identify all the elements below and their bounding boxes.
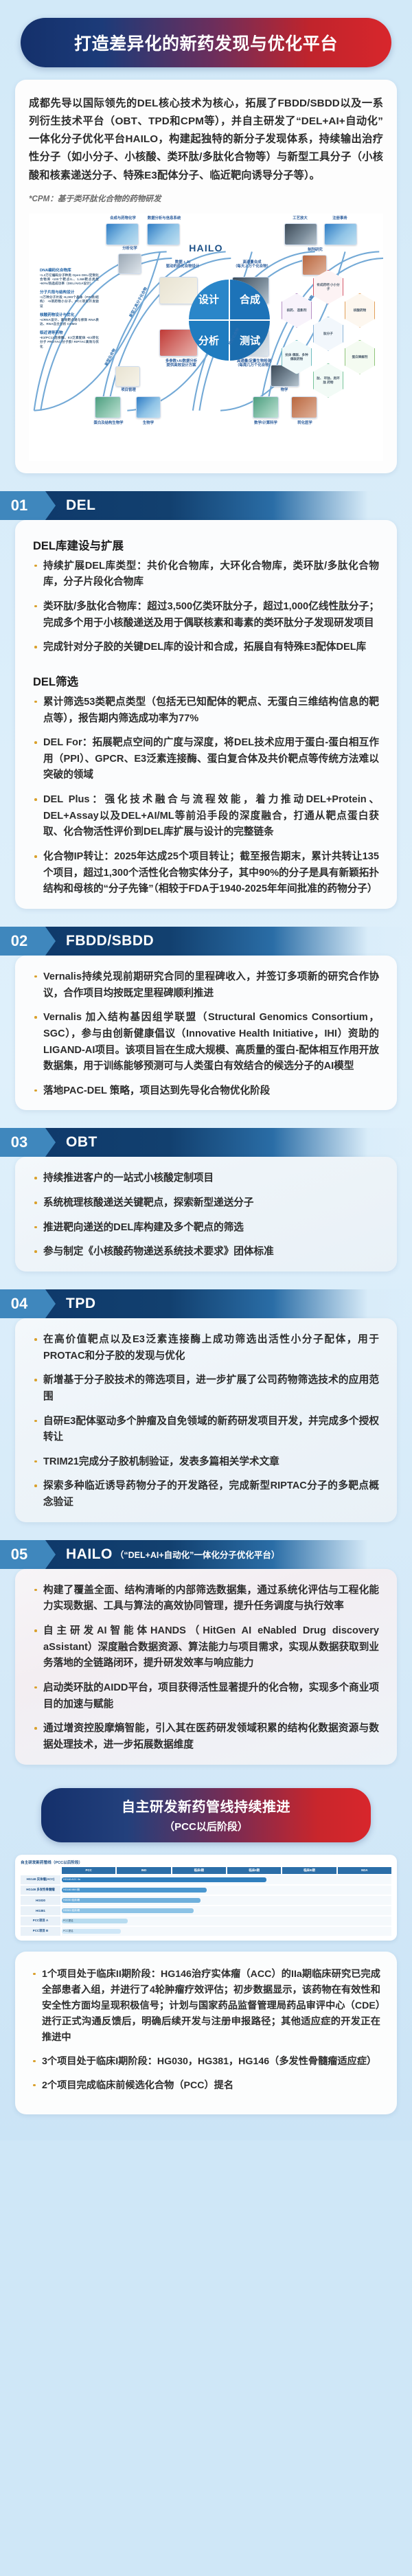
list-item: 推进靶向递送的DEL库构建及多个靶点的筛选 xyxy=(33,1220,379,1236)
section-body-05: 构建了覆盖全面、结构清晰的内部筛选数据集，通过系统化评估与工程化能力实现数据、工… xyxy=(15,1569,397,1765)
section-banner-02: 02 FBDD/SBDD xyxy=(0,927,412,956)
hex-antibody-conjugate: 抗体 偶联、多种 偶联药物 xyxy=(282,340,312,374)
list-item: 启动类环肽的AIDD平台，项目获得活性显著提升的化合物，实现多个商业项目的加速与… xyxy=(33,1680,379,1713)
pipeline-bar: PCC提名 xyxy=(62,1919,128,1923)
infographic-page: 打造差异化的新药发现与优化平台 成都先导以国际领先的DEL核心技术为核心，拓展了… xyxy=(0,0,412,2140)
intro-card: 成都先导以国际领先的DEL核心技术为核心，拓展了FBDD/SBDD以及一系列衍生… xyxy=(15,80,397,473)
diagram-left-groups: DNA编码化合物库 •1.2万亿编码分子种类 Open DEL/定制化合物库 •… xyxy=(40,267,99,352)
pipeline-title-line2: （PCC以后阶段） xyxy=(48,1819,364,1833)
list-item: 构建了覆盖全面、结构清晰的内部筛选数据集，通过系统化评估与工程化能力实现数据、工… xyxy=(33,1583,379,1615)
thumb-ai-design xyxy=(159,277,198,304)
section-card-03: 持续推进客户的一站式小核酸定制项目 系统梳理核酸递送关键靶点，探索新型递送分子 … xyxy=(15,1157,397,1272)
list-item: 自主研发AI智能体HANDS（HitGen AI eNabled Drug di… xyxy=(33,1623,379,1672)
hex-protein-degrader: 蛋白降解剂 xyxy=(345,340,375,374)
section-banner-05: 05 HAILO （“DEL+AI+自动化”一体化分子优化平台） xyxy=(0,1540,412,1569)
section-banner-03: 03 OBT xyxy=(0,1128,412,1157)
diagram-label-process-scaleup: 工艺放大 xyxy=(279,216,321,221)
thumb-project-management xyxy=(115,366,140,387)
section-titlebar-01: DEL xyxy=(45,491,412,520)
bullet-list-tpd: 在高价值靶点以及E3泛素连接酶上成功筛选出活性小分子配体，用于PROTAC和分子… xyxy=(33,1332,379,1511)
intro-footnote: *CPM：基于类环肽化合物的药物研发 xyxy=(29,193,383,204)
pipeline-phase-header: 临床II期 xyxy=(227,1867,281,1874)
thumb-analytical-chemistry xyxy=(118,253,141,274)
left-group-lines-3: •E3/PC13连接酶、E3泛素配体 •E3转化分子 PROTAC/分子胶/ R… xyxy=(40,336,99,349)
section-titlebar-03: OBT xyxy=(45,1128,412,1157)
pipeline-row-label: HG381 xyxy=(21,1906,60,1915)
pipeline-phase-header-row: PCC IND 临床I期 临床II期 临床III期 NDA xyxy=(62,1867,391,1874)
section-banner-04: 04 TPD xyxy=(0,1289,412,1318)
left-group-title-0: DNA编码化合物库 xyxy=(40,267,99,273)
list-item: 类环肽/多肽化合物库：超过3,500亿类环肽分子，超过1,000亿线性肽分子；完… xyxy=(33,599,379,631)
pipeline-title-pill: 自主研发新药管线持续推进 （PCC以后阶段） xyxy=(41,1788,371,1842)
diagram-label-data-analysis: 数据分析与信息系统 xyxy=(136,216,192,221)
diagram-caption-high-throughput-synthesis: 高通量合成 （每天上万个化合物） xyxy=(222,260,282,270)
pipeline-bar: HG146 MM I期 xyxy=(62,1888,207,1893)
list-item: 探索多种临近诱导药物分子的开发路径，完成新型RIPTAC分子的多靶点概念验证 xyxy=(33,1478,379,1511)
section-number-01: 01 xyxy=(0,491,45,520)
left-group-title-1: 分子片段与结构设计 xyxy=(40,289,99,295)
list-item: 参与制定《小核酸药物递送系统技术要求》团体标准 xyxy=(33,1244,379,1261)
section-banner-01: 01 DEL xyxy=(0,491,412,520)
diagram-output-hexagons: 有成药吧 小小分子 核药、 造影剂 核酸药物 肽分子 抗体 偶联、多种 偶联药物… xyxy=(276,270,379,400)
intro-paragraph: 成都先导以国际领先的DEL核心技术为核心，拓展了FBDD/SBDD以及一系列衍生… xyxy=(29,95,383,185)
pipeline-row-track: HG381 临床I期 xyxy=(62,1906,391,1915)
list-item: 系统梳理核酸递送关键靶点，探索新型递送分子 xyxy=(33,1195,379,1212)
left-group-lines-2: •siRNA设计、高效靶点递与修饰 RNA表达、RNA自主分析 CDMO xyxy=(40,318,99,326)
pipeline-row-track: PCC提名 xyxy=(62,1917,391,1925)
section-body-02: Vernalis持续兑现前期研究合同的里程碑收入，并签订多项新的研究合作协议，合… xyxy=(15,956,397,1110)
list-item: Vernalis持续兑现前期研究合同的里程碑收入，并签订多项新的研究合作协议，合… xyxy=(33,969,379,1002)
pipeline-chart-title: 自主研发新药管线（PCC以后阶段） xyxy=(21,1860,391,1865)
list-item: 在高价值靶点以及E3泛素连接酶上成功筛选出活性小分子配体，用于PROTAC和分子… xyxy=(33,1332,379,1364)
diagram-label-analytical-chemistry: 分析化学 xyxy=(110,247,150,251)
section-number-03: 03 xyxy=(0,1128,45,1157)
pipeline-row-label: HG146 多发性骨髓瘤 xyxy=(21,1886,60,1895)
subheading-del-screening: DEL筛选 xyxy=(33,673,379,689)
list-item: 自研E3配体驱动多个肿瘤及自免领域的新药研发项目开发，并完成多个授权转让 xyxy=(33,1414,379,1446)
list-item: 新增基于分子胶技术的筛选项目，进一步扩展了公司药物筛选技术的应用范围 xyxy=(33,1372,379,1405)
bullet-list-pipeline: 1个项目处于临床II期阶段：HG146治疗实体瘤（ACC）的IIa期临床研究已完… xyxy=(32,1967,380,2094)
thumb-computational-science xyxy=(253,396,279,418)
hailo-platform-diagram: HAILO DNA编码化合物库 •1.2万亿编码分子种类 Open DEL/定制… xyxy=(29,214,383,461)
subheading-del-library: DEL库建设与扩展 xyxy=(33,536,379,553)
bullet-list-del-screening: 累计筛选53类靶点类型（包括无已知配体的靶点、无蛋白三维结构信息的靶点等），报告… xyxy=(33,694,379,898)
section-body-04: 在高价值靶点以及E3泛素连接酶上成功筛选出活性小分子配体，用于PROTAC和分子… xyxy=(15,1318,397,1522)
pipeline-phase-header: IND xyxy=(117,1867,170,1874)
pipeline-row-label: PCC项目 A xyxy=(21,1917,60,1925)
pipeline-row-label: PCC项目 B xyxy=(21,1927,60,1936)
pipeline-bullets-card: 1个项目处于临床II期阶段：HG146治疗实体瘤（ACC）的IIa期临床研究已完… xyxy=(15,1952,397,2114)
diagram-label-translational-medicine: 转化医学 xyxy=(286,421,324,426)
section-body-01: DEL库建设与扩展 持续扩展DEL库类型：共价化合物库，大环化合物库，类环肽/多… xyxy=(15,520,397,909)
section-subtitle-05: （“DEL+AI+自动化”一体化分子优化平台） xyxy=(115,1548,280,1561)
section-card-01: DEL库建设与扩展 持续扩展DEL库类型：共价化合物库，大环化合物库，类环肽/多… xyxy=(15,520,397,909)
pipeline-bar: HG146 ACC IIa xyxy=(62,1877,266,1882)
section-title-01: DEL xyxy=(66,497,96,514)
diagram-label-computational-science: 数学/计算科学 xyxy=(244,421,287,426)
pipeline-phase-header: NDA xyxy=(338,1867,391,1874)
list-item: Vernalis 加入结构基因组学联盟（Structural Genomics … xyxy=(33,1010,379,1075)
pipeline-bar: PCC提名 xyxy=(62,1929,121,1934)
list-item: DEL For：拓展靶点空间的广度与深度，将DEL技术应用于蛋白-蛋白相互作用（… xyxy=(33,735,379,784)
bullet-list-del-library: 持续扩展DEL库类型：共价化合物库，大环化合物库，类环肽/多肽化合物库，分子片段… xyxy=(33,558,379,656)
list-item: 1个项目处于临床II期阶段：HG146治疗实体瘤（ACC）的IIa期临床研究已完… xyxy=(32,1967,380,2046)
page-title-pill: 打造差异化的新药发现与优化平台 xyxy=(21,18,391,67)
list-item: 通过增资控股摩熵智能，引入其在医药研发领域积累的结构化数据资源与数据处理技术，进… xyxy=(33,1721,379,1753)
left-group-title-3: 临近诱导药物 xyxy=(40,330,99,335)
hailo-quadrant-wheel: 设计 合成 分析 测试 xyxy=(189,280,270,361)
section-body-03: 持续推进客户的一站式小核酸定制项目 系统梳理核酸递送关键靶点，探索新型递送分子 … xyxy=(15,1157,397,1272)
bullet-list-hailo: 构建了覆盖全面、结构清晰的内部筛选数据集，通过系统化评估与工程化能力实现数据、工… xyxy=(33,1583,379,1754)
list-item: 化合物IP转让：2025年达成25个项目转让；截至报告期末，累计共转让135个项… xyxy=(33,849,379,898)
diagram-label-formulation-research: 制剂研究 xyxy=(295,248,335,253)
thumb-protein-structural-biology xyxy=(95,396,121,418)
bullet-list-obt: 持续推进客户的一站式小核酸定制项目 系统梳理核酸递送关键靶点，探索新型递送分子 … xyxy=(33,1171,379,1261)
thumb-biology xyxy=(136,396,161,418)
left-group-lines-0: •1.2万亿编码分子种类 Open DEL/定制化合物库 •100个靶点/L、1… xyxy=(40,273,99,286)
diagram-label-regulatory-affairs: 注册事务 xyxy=(319,216,361,221)
pipeline-phase-header: PCC xyxy=(62,1867,115,1874)
section-title-04: TPD xyxy=(66,1296,96,1312)
section-title-05: HAILO xyxy=(66,1546,113,1563)
pipeline-row-label: HG030 xyxy=(21,1896,60,1905)
hex-radiopharma-imaging: 核药、 造影剂 xyxy=(282,293,312,328)
thumb-process-scaleup xyxy=(284,223,317,245)
pipeline-phase-header: 临床III期 xyxy=(282,1867,336,1874)
left-group-title-2: 核酸药物设计与优化 xyxy=(40,312,99,317)
bullet-list-fbdd-sbdd: Vernalis持续兑现前期研究合同的里程碑收入，并签订多项新的研究合作协议，合… xyxy=(33,969,379,1099)
list-item: 累计筛选53类靶点类型（包括无已知配体的靶点、无蛋白三维结构信息的靶点等），报告… xyxy=(33,694,379,727)
hex-undruggable-small-molecule: 有成药吧 小小分子 xyxy=(313,270,343,304)
hex-peptide-molecule: 肽分子 xyxy=(313,317,343,351)
hex-macrocyclic-peptide-drug: 肽、 环肽、类环肽 药物 xyxy=(313,363,343,398)
pipeline-row-track: PCC提名 xyxy=(62,1927,391,1936)
section-title-03: OBT xyxy=(66,1134,98,1151)
list-item: 持续扩展DEL库类型：共价化合物库，大环化合物库，类环肽/多肽化合物库，分子片段… xyxy=(33,558,379,591)
pipeline-phase-header: 临床I期 xyxy=(172,1867,226,1874)
left-group-lines-1: •1万种分子片段 •6,000个晶体（PPI类/结构） •9项药物小分子、PCC… xyxy=(40,295,99,308)
section-card-04: 在高价值靶点以及E3泛素连接酶上成功筛选出活性小分子配体，用于PROTAC和分子… xyxy=(15,1318,397,1522)
thumb-regulatory-affairs xyxy=(324,223,357,245)
pipeline-row-track: HG030 临床I期 xyxy=(62,1896,391,1905)
list-item: TRIM21完成分子胶机制验证，发表多篇相关学术文章 xyxy=(33,1454,379,1471)
diagram-caption-ai-design: 数据 + AI 驱动的药化合物设计 xyxy=(157,260,209,270)
section-titlebar-02: FBDD/SBDD xyxy=(45,927,412,956)
list-item: 2个项目完成临床前候选化合物（PCC）提名 xyxy=(32,2078,380,2094)
pipeline-bar: HG381 临床I期 xyxy=(62,1908,194,1913)
section-card-02: Vernalis持续兑现前期研究合同的里程碑收入，并签订多项新的研究合作协议，合… xyxy=(15,956,397,1110)
diagram-label-project-management: 项目管理 xyxy=(110,388,147,393)
pipeline-chart: 自主研发新药管线（PCC以后阶段） PCC IND 临床I期 临床II期 临床I… xyxy=(15,1855,397,1941)
page-title-wrap: 打造差异化的新药发现与优化平台 xyxy=(0,0,412,67)
hex-nucleic-acid-drug: 核酸药物 xyxy=(345,293,375,328)
diagram-caption-multiparam-analysis: 多参数+AI数据分析 提供高效设计方案 xyxy=(154,359,209,369)
pipeline-title-line1: 自主研发新药管线持续推进 xyxy=(48,1796,364,1816)
pipeline-bar: HG030 临床I期 xyxy=(62,1898,201,1903)
section-titlebar-05: HAILO （“DEL+AI+自动化”一体化分子优化平台） xyxy=(45,1540,412,1569)
section-number-05: 05 xyxy=(0,1540,45,1569)
pipeline-title-wrap: 自主研发新药管线持续推进 （PCC以后阶段） xyxy=(0,1765,412,1842)
pipeline-row-label: HG146 实体瘤(ACC) xyxy=(21,1875,60,1884)
thumb-synthesis-chemistry xyxy=(106,223,139,245)
section-number-02: 02 xyxy=(0,927,45,956)
list-item: DEL Plus：强化技术融合与流程效能，着力推动DEL+Protein、DEL… xyxy=(33,792,379,841)
section-card-05: 构建了覆盖全面、结构清晰的内部筛选数据集，通过系统化评估与工程化能力实现数据、工… xyxy=(15,1569,397,1765)
list-item: 3个项目处于临床I期阶段：HG030，HG381，HG146（多发性骨髓瘤适应症… xyxy=(32,2054,380,2070)
page-title: 打造差异化的新药发现与优化平台 xyxy=(74,30,338,55)
diagram-label-protein-structural-biology: 蛋白及结构生物学 xyxy=(84,421,133,426)
section-number-04: 04 xyxy=(0,1289,45,1318)
diagram-label-biology: 生物学 xyxy=(132,421,165,426)
list-item: 完成针对分子胶的关键DEL库的设计和合成，拓展自有特殊E3配体DEL库 xyxy=(33,640,379,656)
pipeline-chart-grid: PCC IND 临床I期 临床II期 临床III期 NDA HG146 实体瘤(… xyxy=(21,1867,391,1936)
thumb-data-analysis xyxy=(147,223,180,245)
pipeline-row-track: HG146 ACC IIa xyxy=(62,1875,391,1884)
section-title-02: FBDD/SBDD xyxy=(66,933,154,949)
list-item: 落地PAC-DEL 策略，项目达到先导化合物优化阶段 xyxy=(33,1083,379,1100)
pipeline-row-track: HG146 MM I期 xyxy=(62,1886,391,1895)
list-item: 持续推进客户的一站式小核酸定制项目 xyxy=(33,1171,379,1187)
section-titlebar-04: TPD xyxy=(45,1289,412,1318)
